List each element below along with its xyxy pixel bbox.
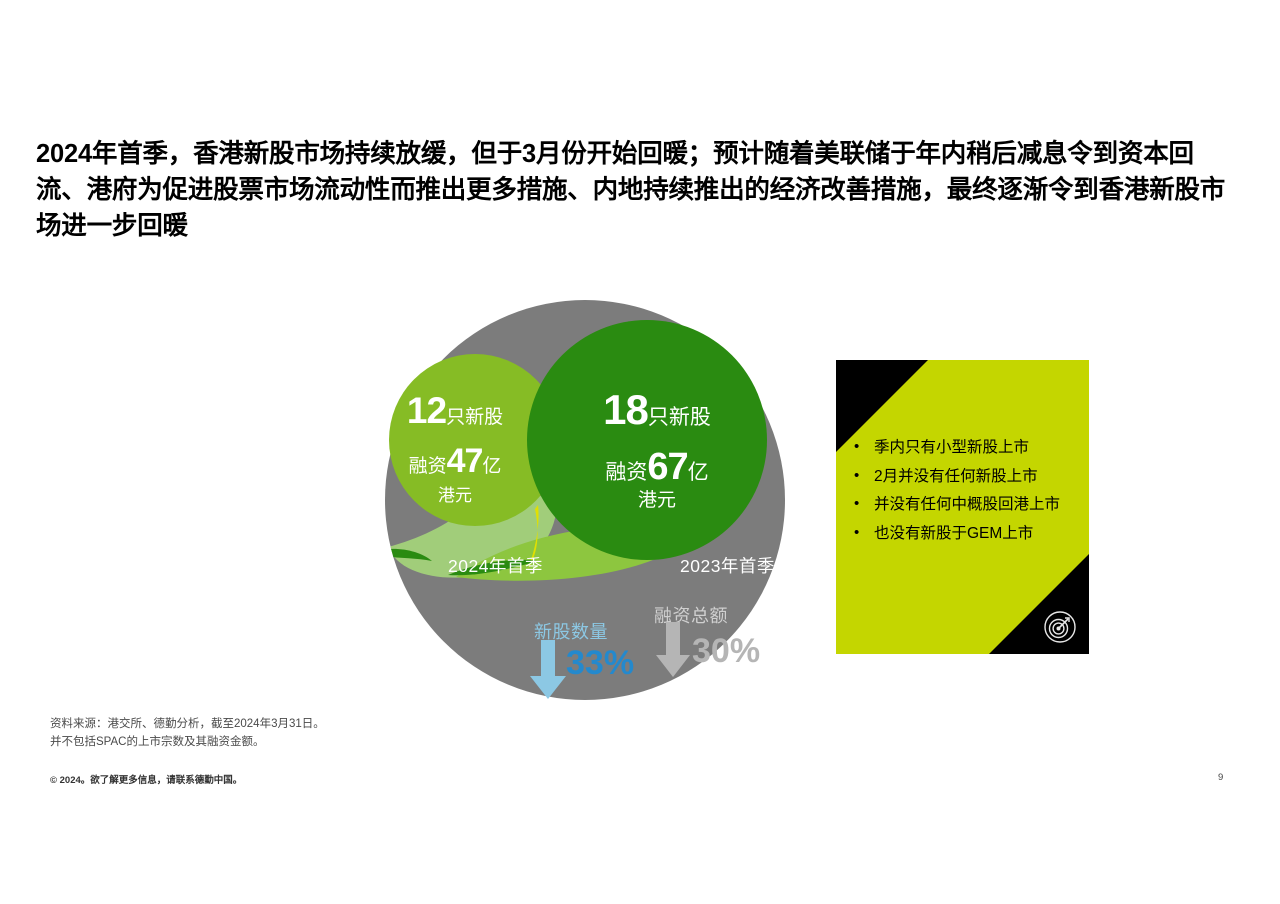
bubble-2023-count: 18 (603, 386, 648, 433)
slide-canvas: 2024年首季，香港新股市场持续放缓，但于3月份开始回暖；预计随着美联储于年内稍… (0, 0, 1280, 904)
list-item: 2月并没有任何新股上市 (848, 467, 1080, 487)
bubble-2024-proceeds: 47 (447, 442, 483, 480)
list-item: 也没有新股于GEM上市 (848, 524, 1080, 544)
bubble-2023-proceeds-unit: 亿 (688, 461, 709, 484)
highlights-panel: 季内只有小型新股上市 2月并没有任何新股上市 并没有任何中概股回港上市 也没有新… (836, 360, 1089, 654)
list-item: 季内只有小型新股上市 (848, 438, 1080, 458)
bubble-2023-proceeds: 67 (647, 446, 687, 488)
bubble-2023-proceeds-line: 融资67亿 (572, 448, 742, 486)
bubble-2023-count-suffix: 只新股 (648, 406, 711, 429)
bubble-2024-proceeds-unit: 亿 (482, 456, 501, 477)
copyright-notice: © 2024。欲了解更多信息，请联系德勤中国。 (50, 772, 242, 786)
bubble-2024-proceeds-prefix: 融资 (409, 456, 447, 477)
bubble-2024-currency: 港元 (380, 487, 530, 504)
bubble-2024-proceeds-line: 融资47亿 (380, 444, 530, 478)
stat-amount-value: 30% (692, 632, 760, 671)
bubble-2024-count: 12 (407, 390, 446, 431)
bubble-2024-count-suffix: 只新股 (446, 407, 503, 428)
bubble-2023 (527, 320, 767, 560)
bubble-2023-proceeds-prefix: 融资 (605, 461, 647, 484)
source-note: 资料来源：港交所、德勤分析，截至2024年3月31日。 并不包括SPAC的上市宗… (50, 716, 325, 752)
bubble-2023-count-line: 18只新股 (572, 389, 742, 431)
stat-count-value: 33% (566, 644, 634, 683)
year-label-2024: 2024年首季 (448, 553, 543, 578)
arrow-down-icon (529, 640, 567, 700)
page-number: 9 (1218, 772, 1223, 783)
list-item: 并没有任何中概股回港上市 (848, 495, 1080, 515)
year-label-2023: 2023年首季 (680, 553, 775, 578)
highlights-list: 季内只有小型新股上市 2月并没有任何新股上市 并没有任何中概股回港上市 也没有新… (848, 438, 1080, 553)
target-icon (1043, 610, 1077, 644)
page-title: 2024年首季，香港新股市场持续放缓，但于3月份开始回暖；预计随着美联储于年内稍… (36, 136, 1236, 245)
bubble-2023-currency: 港元 (572, 491, 742, 510)
bubble-2024-count-line: 12只新股 (380, 392, 530, 429)
arrow-down-icon (655, 622, 691, 678)
